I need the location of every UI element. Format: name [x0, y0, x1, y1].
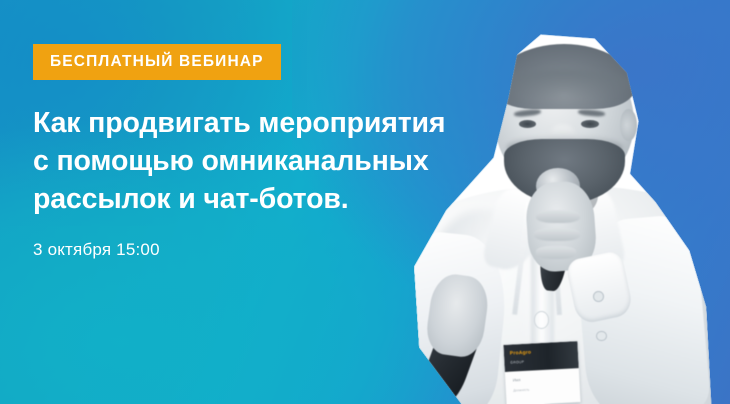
- speaker-finger-3: [536, 246, 577, 258]
- event-datetime: 3 октября 15:00: [33, 240, 160, 260]
- speaker-ear: [620, 109, 637, 141]
- speaker-name-badge: ProAgro GROUP Имя Должность: [504, 341, 581, 404]
- speaker-photo: ProAgro GROUP Имя Должность: [392, 0, 730, 404]
- shirt-button-2: [596, 331, 606, 341]
- speaker-figure: ProAgro GROUP Имя Должность: [392, 0, 730, 404]
- shirt-button-1: [593, 291, 604, 302]
- speaker-hair-fade: [497, 69, 632, 101]
- speaker-finger-2: [534, 228, 580, 241]
- name-badge-header: [504, 341, 580, 372]
- name-badge-role: Должность: [513, 388, 529, 393]
- free-webinar-badge: Бесплатный вебинар: [33, 44, 281, 80]
- name-badge-name: Имя: [513, 377, 521, 383]
- speaker-finger-1: [536, 210, 580, 223]
- webinar-promo-banner: Бесплатный вебинар Как продвигать меропр…: [0, 0, 730, 404]
